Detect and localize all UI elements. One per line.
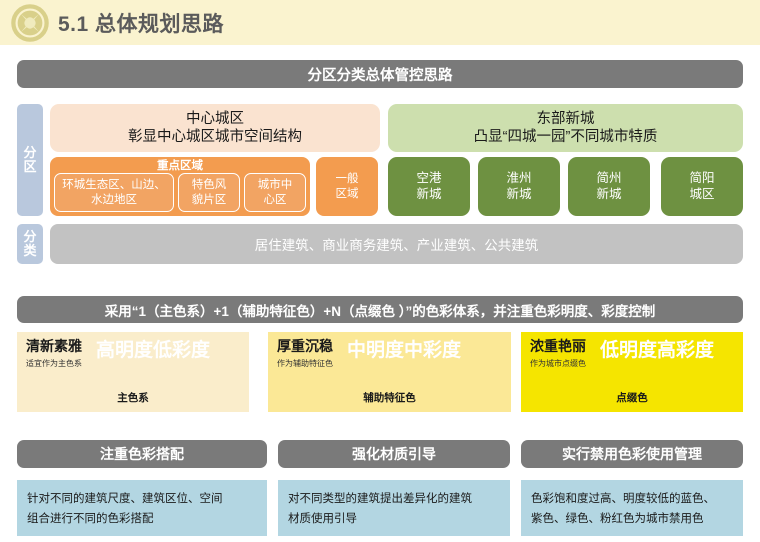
color-panel-accent: 浓重艳丽 作为城市点缀色 低明度高彩度 — [521, 332, 743, 382]
general-area-box[interactable]: 一般 区域 — [316, 157, 378, 216]
key-area-item-citycenter-line2: 心区 — [258, 193, 293, 207]
city-box-huaizhou-line2: 新城 — [506, 187, 531, 203]
key-area-item-citycenter-line1: 城市中 — [258, 178, 293, 192]
row-label-fenqu-char1: 分 — [23, 146, 36, 160]
city-box-jianyang-line2: 城区 — [689, 187, 714, 203]
row-label-fenqu-char2: 区 — [23, 160, 36, 174]
key-area-group: 重点区域 环城生态区、山边、 水边地区 特色风 貌片区 城市中 心区 — [50, 157, 310, 216]
color-panel-accent-sub: 作为城市点缀色 — [530, 358, 586, 369]
general-area-line1: 一般 — [336, 172, 359, 186]
zone-central-line2: 彰显中心城区城市空间结构 — [128, 128, 302, 146]
city-box-jianzhou-line2: 新城 — [596, 187, 621, 203]
row-label-fenlei-char2: 类 — [23, 244, 36, 258]
bottom-header-banned-colors: 实行禁用色彩使用管理 — [521, 440, 743, 468]
color-panel-assist-left: 厚重沉稳 作为辅助特征色 — [277, 339, 333, 369]
bottom-body-color-matching: 针对不同的建筑尺度、建筑区位、空间 组合进行不同的色彩搭配 — [17, 480, 267, 536]
swirl-circle-icon — [10, 3, 50, 43]
bottom-body-material-guide-line1: 对不同类型的建筑提出差异化的建筑 — [288, 489, 500, 509]
zone-central-header: 中心城区 彰显中心城区城市空间结构 — [50, 104, 380, 152]
bottom-body-material-guide: 对不同类型的建筑提出差异化的建筑 材质使用引导 — [278, 480, 510, 536]
key-area-item-eco[interactable]: 环城生态区、山边、 水边地区 — [54, 173, 174, 212]
slide-header: 5.1 总体规划思路 — [0, 0, 760, 45]
bottom-header-material-guide: 强化材质引导 — [278, 440, 510, 468]
zone-central-line1: 中心城区 — [186, 110, 244, 128]
section2-title-bar: 采用“1（主色系）+1（辅助特征色）+N（点缀色 ）”的色彩体系，并注重色彩明度… — [17, 296, 743, 323]
zone-east-header: 东部新城 凸显“四城一园”不同城市特质 — [388, 104, 743, 152]
general-area-line2: 区域 — [336, 187, 359, 201]
color-panel-accent-left: 浓重艳丽 作为城市点缀色 — [530, 339, 586, 369]
color-panel-accent-big: 低明度高彩度 — [600, 341, 714, 362]
city-box-konggang-line1: 空港 — [416, 171, 441, 187]
color-panel-assist-sub: 作为辅助特征色 — [277, 358, 333, 369]
bottom-header-color-matching: 注重色彩搭配 — [17, 440, 267, 468]
city-box-huaizhou-line1: 淮州 — [506, 171, 531, 187]
bottom-body-color-matching-line1: 针对不同的建筑尺度、建筑区位、空间 — [27, 489, 257, 509]
color-panel-main-name: 清新素雅 — [26, 339, 82, 354]
row-label-fenlei: 分 类 — [17, 224, 43, 264]
color-panel-main-sub: 适宜作为主色系 — [26, 358, 82, 369]
city-box-huaizhou[interactable]: 淮州 新城 — [478, 157, 560, 216]
bottom-body-material-guide-line2: 材质使用引导 — [288, 509, 500, 529]
color-panel-assist-name: 厚重沉稳 — [277, 339, 333, 354]
section1-title-bar: 分区分类总体管控思路 — [17, 60, 743, 88]
color-panel-main-left: 清新素雅 适宜作为主色系 — [26, 339, 82, 369]
color-panel-accent-foot: 点缀色 — [521, 382, 743, 412]
city-box-konggang[interactable]: 空港 新城 — [388, 157, 470, 216]
classification-bar: 居住建筑、商业商务建筑、产业建筑、公共建筑 — [50, 224, 743, 264]
color-panel-main: 清新素雅 适宜作为主色系 高明度低彩度 — [17, 332, 249, 382]
city-box-konggang-line2: 新城 — [416, 187, 441, 203]
page-title: 5.1 总体规划思路 — [58, 8, 224, 38]
bottom-body-banned-colors-line2: 紫色、绿色、粉红色为城市禁用色 — [531, 509, 733, 529]
row-label-fenqu: 分 区 — [17, 104, 43, 216]
zone-east-line2: 凸显“四城一园”不同城市特质 — [474, 128, 658, 146]
bottom-body-color-matching-line2: 组合进行不同的色彩搭配 — [27, 509, 257, 529]
bottom-body-banned-colors: 色彩饱和度过高、明度较低的蓝色、 紫色、绿色、粉红色为城市禁用色 — [521, 480, 743, 536]
color-panel-assist-foot: 辅助特征色 — [268, 382, 511, 412]
key-area-item-feature-line2: 貌片区 — [192, 193, 227, 207]
key-area-item-eco-line1: 环城生态区、山边、 — [62, 178, 166, 192]
key-area-title: 重点区域 — [54, 159, 306, 173]
key-area-items: 环城生态区、山边、 水边地区 特色风 貌片区 城市中 心区 — [54, 173, 306, 212]
key-area-item-feature[interactable]: 特色风 貌片区 — [178, 173, 240, 212]
color-panel-assist: 厚重沉稳 作为辅助特征色 中明度中彩度 — [268, 332, 511, 382]
key-area-item-feature-line1: 特色风 — [192, 178, 227, 192]
color-panel-assist-big: 中明度中彩度 — [347, 341, 461, 362]
color-panel-main-foot: 主色系 — [17, 382, 249, 412]
city-box-jianzhou[interactable]: 简州 新城 — [568, 157, 650, 216]
city-box-jianzhou-line1: 简州 — [596, 171, 621, 187]
city-box-jianyang[interactable]: 简阳 城区 — [661, 157, 743, 216]
color-panel-accent-name: 浓重艳丽 — [530, 339, 586, 354]
key-area-item-eco-line2: 水边地区 — [62, 193, 166, 207]
city-box-jianyang-line1: 简阳 — [689, 171, 714, 187]
zone-east-line1: 东部新城 — [537, 110, 595, 128]
row-label-fenlei-char1: 分 — [23, 230, 36, 244]
bottom-body-banned-colors-line1: 色彩饱和度过高、明度较低的蓝色、 — [531, 489, 733, 509]
key-area-item-citycenter[interactable]: 城市中 心区 — [244, 173, 306, 212]
color-panel-main-big: 高明度低彩度 — [96, 341, 210, 362]
